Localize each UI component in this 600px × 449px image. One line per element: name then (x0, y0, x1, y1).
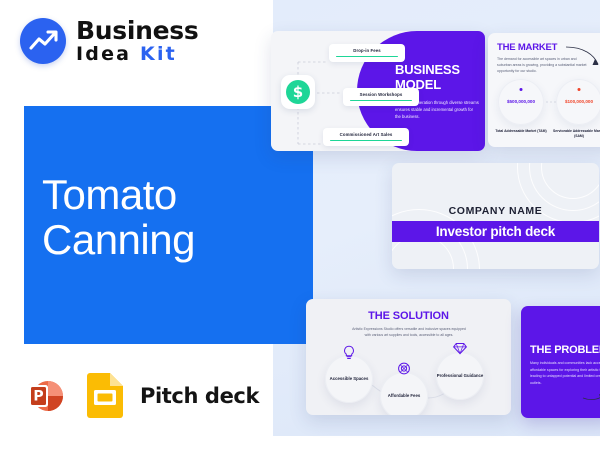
trend-arrow-circle-icon (20, 18, 66, 64)
pitch-deck-label: Pitch deck (140, 384, 259, 408)
solution-item-label: Affordable Fees (388, 393, 420, 399)
slide-business-model[interactable]: BUSINESS MODEL Revenue generation throug… (271, 31, 485, 151)
brand-kit-text: Kit (140, 43, 177, 65)
solution-item-label: Accessible Spaces (330, 376, 369, 382)
business-model-node[interactable]: Session Workshops (343, 88, 419, 106)
hero-title-line-2: Canning (42, 217, 195, 262)
coin-circle-icon (398, 362, 411, 380)
slide-company-title[interactable]: COMPANY NAME Investor pitch deck (392, 163, 599, 269)
google-slides-icon (84, 372, 126, 420)
solution-item[interactable]: Professional Guidance (436, 352, 484, 400)
poster-canvas: Business Idea Kit Tomato Canning P (0, 0, 600, 449)
solution-item[interactable]: Accessible Spaces (325, 355, 373, 403)
slide-the-problem[interactable]: THE PROBLEM Many individuals and communi… (521, 306, 600, 418)
solution-item[interactable]: Affordable Fees (380, 372, 428, 415)
brand-logo[interactable]: Business Idea Kit (20, 18, 198, 64)
business-model-node[interactable]: Commissioned Art Sales (323, 128, 409, 146)
business-model-node-label: Session Workshops (350, 92, 412, 97)
format-badges: P Pitch deck (22, 372, 259, 420)
diamond-icon (453, 342, 467, 360)
brand-logo-text: Business Idea Kit (76, 18, 198, 64)
slide-the-market[interactable]: THE MARKET The demand for accessible art… (488, 33, 600, 147)
slide-the-solution[interactable]: THE SOLUTION Artistic Expressions Studio… (306, 299, 511, 415)
brand-line-1: Business (76, 18, 198, 43)
business-model-node[interactable]: Drop-in Fees (329, 44, 405, 62)
market-stat-value: $500,000,000 (498, 99, 544, 104)
lightbulb-icon (343, 345, 356, 365)
investor-pitch-band: Investor pitch deck (392, 221, 599, 242)
market-stat-value: $100,000,000 (556, 99, 600, 104)
dollar-sign-icon: $ (281, 75, 315, 109)
market-stat-circle: $500,000,000 Total Addressable Market (T… (498, 79, 544, 125)
hero-title: Tomato Canning (42, 172, 195, 263)
business-model-node-label: Commissioned Art Sales (330, 132, 402, 137)
solution-item-label: Professional Guidance (437, 373, 484, 379)
powerpoint-icon: P (22, 372, 70, 420)
company-name: COMPANY NAME (392, 205, 599, 217)
investor-pitch-deck-label: Investor pitch deck (436, 224, 555, 239)
hero-title-line-1: Tomato (42, 172, 195, 217)
svg-text:P: P (33, 389, 43, 405)
business-model-node-label: Drop-in Fees (336, 48, 398, 53)
market-stat-caption: Serviceable Addressable Market (SAM) (552, 129, 600, 139)
brand-idea-text: Idea (76, 43, 131, 65)
market-stat-circle: $100,000,000 Serviceable Addressable Mar… (556, 79, 600, 125)
brand-line-2: Idea Kit (76, 45, 198, 64)
market-stat-caption: Total Addressable Market (TAM) (494, 129, 548, 134)
